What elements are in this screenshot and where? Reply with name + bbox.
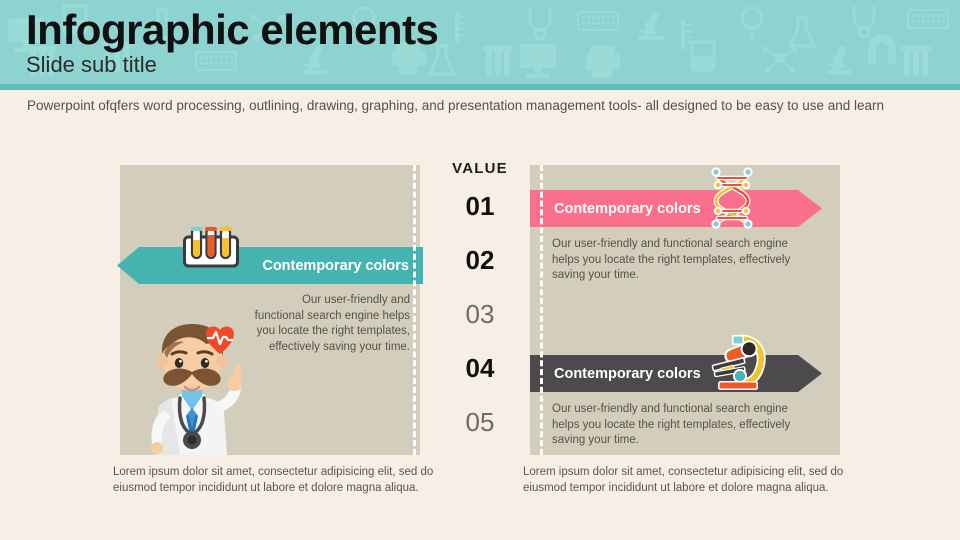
value-number-01[interactable]: 01: [430, 193, 530, 219]
right-banner-dark[interactable]: Contemporary colors: [530, 355, 822, 392]
value-column: VALUE 01 02 03 04 05: [430, 160, 530, 435]
dna-icon: [706, 167, 758, 229]
right-panel-dashed-divider: [540, 165, 543, 455]
microscope-icon: [706, 333, 768, 391]
value-number-03[interactable]: 03: [430, 301, 530, 327]
page-title: Infographic elements: [26, 4, 438, 56]
right-banner-dark-label: Contemporary colors: [554, 366, 701, 382]
value-number-02[interactable]: 02: [430, 247, 530, 273]
test-tubes-icon: [183, 226, 239, 268]
left-panel-caption: Lorem ipsum dolor sit amet, consectetur …: [113, 464, 453, 496]
doctor-with-heart-icon: [128, 312, 256, 455]
right-content-panel: Contemporary colors Our user-friendly an…: [530, 165, 840, 455]
left-banner-label: Contemporary colors: [262, 258, 409, 274]
right-panel-body-text-2: Our user-friendly and functional search …: [552, 402, 797, 449]
header-bottom-band: [0, 84, 960, 90]
value-number-04[interactable]: 04: [430, 355, 530, 381]
right-banner-pink[interactable]: Contemporary colors: [530, 190, 822, 227]
left-banner-teal[interactable]: Contemporary colors: [117, 247, 423, 284]
right-panel-body-text-1: Our user-friendly and functional search …: [552, 237, 797, 284]
intro-paragraph: Powerpoint ofqfers word processing, outl…: [27, 95, 907, 116]
left-panel-body-text: Our user-friendly and functional search …: [250, 293, 410, 355]
page-header: Infographic elements Slide sub title: [0, 0, 960, 90]
left-panel-dashed-divider: [413, 165, 416, 455]
header-text-block: Infographic elements Slide sub title: [26, 4, 438, 78]
value-column-label: VALUE: [430, 160, 530, 177]
right-panel-caption: Lorem ipsum dolor sit amet, consectetur …: [523, 464, 863, 496]
right-banner-pink-label: Contemporary colors: [554, 201, 701, 217]
value-number-05[interactable]: 05: [430, 409, 530, 435]
